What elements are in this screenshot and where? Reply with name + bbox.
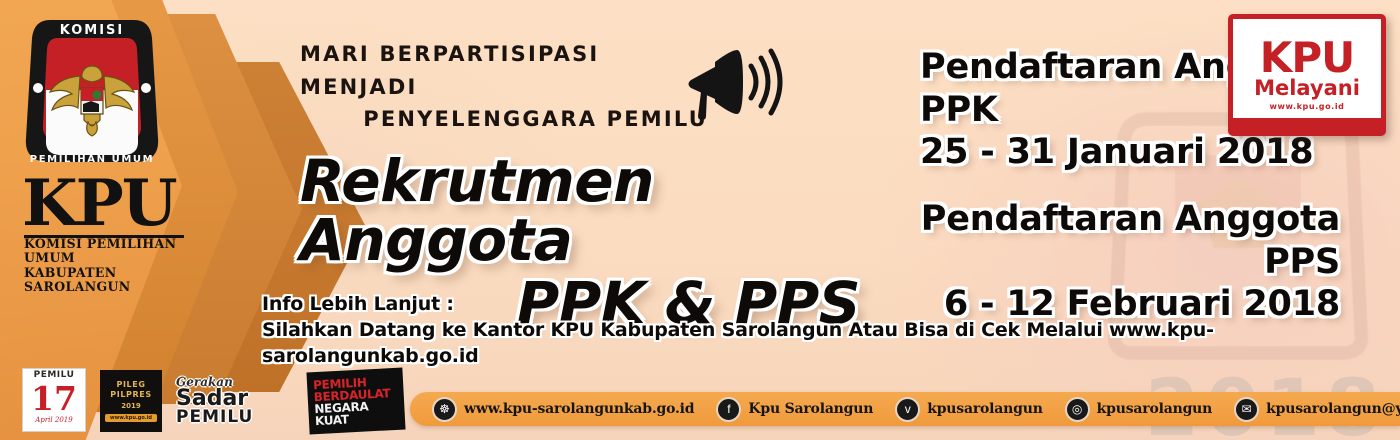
info-label: Info Lebih Lanjut : [262,292,1322,318]
melayani-word: Melayani [1254,78,1360,99]
headline-line1: Rekrutmen Anggota [300,147,654,274]
pileg-line1: PILEG [117,380,146,390]
tagline: MARI BERPARTISIPASI MENJADI PENYELENGGAR… [300,38,720,136]
social-bar: ☸ www.kpu-sarolangunkab.go.id f Kpu Saro… [410,392,1400,426]
pileg-ribbon: www.kpu.go.id [105,414,157,422]
social-item-twitter[interactable]: ᴠ kpusarolangun [895,397,1042,422]
kpu-subtitle: KOMISI PEMILIHAN UMUM KABUPATEN SAROLANG… [24,238,187,296]
pemilu-number: 17 [31,382,77,415]
sadar-word1: Sadar [176,389,253,410]
instagram-icon: ◎ [1065,397,1090,422]
pemilu-date: April 2019 [35,416,72,424]
globe-icon: ☸ [432,397,457,422]
kpu-acronym: KPU [22,175,204,233]
pemilu-17-logo: PEMILU 17 April 2019 [22,368,86,432]
sadar-word2: PEMILU [176,409,253,426]
email-label: kpusarolangun@yahoo.com [1266,401,1400,417]
pemilih-berdaulat-logo: PEMILIH BERDAULAT NEGARA KUAT [306,368,405,435]
ppk-range: 25 - 31 Januari 2018 [920,131,1340,174]
website-label: www.kpu-sarolangunkab.go.id [464,401,694,417]
social-item-email[interactable]: ✉ kpusarolangun@yahoo.com [1234,397,1400,422]
facebook-label: Kpu Sarolangun [748,401,873,417]
megaphone-icon [685,42,785,122]
facebook-icon: f [716,397,741,422]
berdaulat-r4: KUAT [315,411,400,428]
kpu-subtitle-line2: KABUPATEN SAROLANGUN [24,266,131,296]
kpu-melayani-logo: KPU Melayani www.kpu.go.id [1228,14,1386,136]
twitter-label: kpusarolangun [927,401,1042,417]
social-item-website[interactable]: ☸ www.kpu-sarolangunkab.go.id [432,397,694,422]
social-item-facebook[interactable]: f Kpu Sarolangun [716,397,873,422]
kpu-emblem-icon: KOMISI PEMILIHAN UMUM [22,14,162,166]
gerakan-sadar-pemilu-logo: Gerakan Sadar PEMILU [176,370,294,432]
twitter-icon: ᴠ [895,397,920,422]
svg-text:KOMISI: KOMISI [60,23,125,38]
kpu-subtitle-line1: KOMISI PEMILIHAN UMUM [24,237,176,267]
melayani-acronym: KPU [1260,39,1354,78]
pps-title: Pendaftaran Anggota PPS [920,198,1340,283]
svg-text:PEMILIHAN UMUM: PEMILIHAN UMUM [30,154,154,165]
banner-root: 2018 KOMISI PEMILIHAN UM [0,0,1400,440]
info-block: Info Lebih Lanjut : Silahkan Datang ke K… [262,292,1322,369]
tagline-line2: PENYELENGGARA PEMILU [300,103,720,136]
campaign-logo-strip: PEMILU 17 April 2019 PILEG PILPRES 2019 … [22,368,404,432]
pileg-pilpres-badge: PILEG PILPRES 2019 www.kpu.go.id [100,370,162,432]
social-item-instagram[interactable]: ◎ kpusarolangun [1065,397,1212,422]
pileg-year: 2019 [121,402,140,410]
melayani-bottom-bar [1233,118,1381,131]
info-text: Silahkan Datang ke Kantor KPU Kabupaten … [262,318,1322,370]
pileg-line2: PILPRES [110,390,151,400]
tagline-line1: MARI BERPARTISIPASI MENJADI [300,42,599,99]
kpu-logo-block: KOMISI PEMILIHAN UMUM KPU KOMISI PEMILIH… [14,14,204,296]
instagram-label: kpusarolangun [1097,401,1212,417]
melayani-url: www.kpu.go.id [1269,102,1344,111]
email-icon: ✉ [1234,397,1259,422]
